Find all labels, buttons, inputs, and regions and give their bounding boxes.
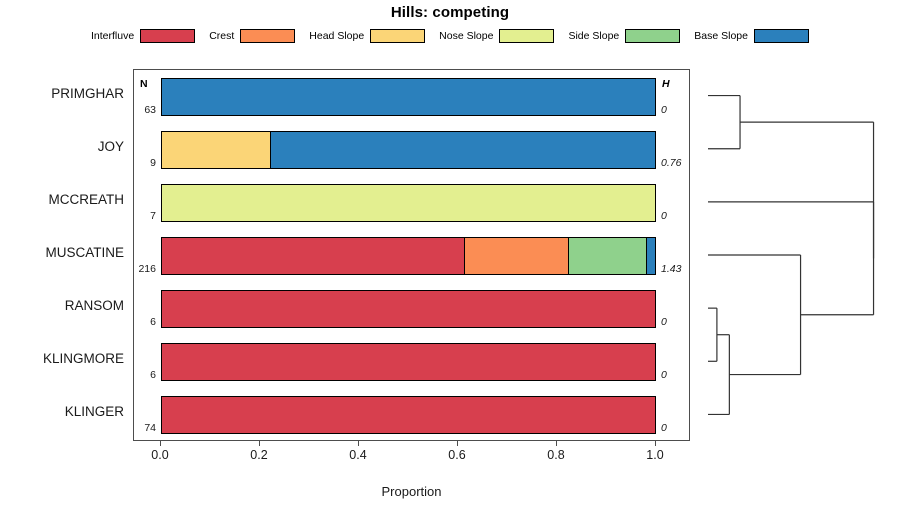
chart-root: Hills: competing InterfluveCrestHead Slo…	[0, 0, 900, 520]
h-value: 0	[661, 316, 667, 328]
legend-entry: Interfluve	[91, 29, 195, 43]
n-value: 74	[134, 422, 156, 434]
legend-entry-label: Crest	[209, 30, 234, 42]
category-label: PRIMGHAR	[51, 87, 124, 101]
legend-entry: Side Slope	[568, 29, 680, 43]
category-label: JOY	[98, 140, 124, 154]
x-axis-tick	[655, 441, 656, 446]
category-label: MCCREATH	[49, 193, 125, 207]
legend: InterfluveCrestHead SlopeNose SlopeSide …	[0, 26, 900, 46]
legend-entry-label: Nose Slope	[439, 30, 493, 42]
legend-entry-label: Head Slope	[309, 30, 364, 42]
stacked-bar	[161, 343, 656, 381]
stacked-bar	[161, 290, 656, 328]
dendrogram-svg	[700, 69, 896, 441]
bar-segment	[162, 185, 655, 221]
h-value: 0	[661, 369, 667, 381]
x-axis: 0.00.20.40.60.81.0	[133, 441, 690, 481]
bar-segment	[162, 132, 271, 168]
legend-color-swatch	[625, 29, 680, 43]
h-value: 1.43	[661, 263, 681, 275]
x-axis-tick-label: 0.6	[448, 448, 465, 462]
category-axis-labels: PRIMGHARJOYMCCREATHMUSCATINERANSOMKLINGM…	[0, 69, 128, 441]
n-value: 6	[134, 369, 156, 381]
x-axis-tick	[259, 441, 260, 446]
stacked-bar	[161, 396, 656, 434]
n-value: 9	[134, 157, 156, 169]
bar-segment	[162, 238, 465, 274]
h-value: 0	[661, 210, 667, 222]
n-value: 7	[134, 210, 156, 222]
category-label: MUSCATINE	[45, 246, 124, 260]
stacked-bar	[161, 184, 656, 222]
x-axis-tick-label: 0.4	[349, 448, 366, 462]
bar-segment	[271, 132, 655, 168]
h-value: 0.76	[661, 157, 681, 169]
x-axis-tick-label: 0.8	[547, 448, 564, 462]
x-axis-tick-label: 1.0	[646, 448, 663, 462]
dendrogram	[700, 69, 896, 441]
bar-segment	[647, 238, 655, 274]
legend-color-swatch	[140, 29, 195, 43]
legend-entry: Base Slope	[694, 29, 809, 43]
stacked-bar	[161, 78, 656, 116]
legend-color-swatch	[754, 29, 809, 43]
h-column-header: H	[662, 78, 670, 90]
x-axis-tick	[556, 441, 557, 446]
bar-segment	[162, 79, 655, 115]
x-axis-tick	[160, 441, 161, 446]
n-value: 216	[134, 263, 156, 275]
category-label: RANSOM	[65, 299, 124, 313]
legend-entry-label: Interfluve	[91, 30, 134, 42]
category-label: KLINGMORE	[43, 352, 124, 366]
x-axis-tick-label: 0.0	[151, 448, 168, 462]
h-value: 0	[661, 422, 667, 434]
x-axis-tick	[358, 441, 359, 446]
stacked-bar	[161, 131, 656, 169]
category-label: KLINGER	[65, 405, 124, 419]
bar-segment	[569, 238, 647, 274]
page-title: Hills: competing	[0, 4, 900, 21]
legend-color-swatch	[240, 29, 295, 43]
legend-entry-label: Side Slope	[568, 30, 619, 42]
x-axis-tick-label: 0.2	[250, 448, 267, 462]
bar-segment	[162, 397, 655, 433]
legend-entry: Crest	[209, 29, 295, 43]
n-value: 6	[134, 316, 156, 328]
legend-entry: Nose Slope	[439, 29, 554, 43]
legend-entry: Head Slope	[309, 29, 425, 43]
bar-segment	[162, 291, 655, 327]
legend-color-swatch	[499, 29, 554, 43]
stacked-bar	[161, 237, 656, 275]
legend-color-swatch	[370, 29, 425, 43]
plot-panel: N H 63090.76702161.436060740	[133, 69, 690, 441]
n-value: 63	[134, 104, 156, 116]
n-column-header: N	[140, 78, 148, 90]
legend-entry-label: Base Slope	[694, 30, 748, 42]
x-axis-label: Proportion	[133, 484, 690, 499]
bar-segment	[162, 344, 655, 380]
bar-segment	[465, 238, 569, 274]
h-value: 0	[661, 104, 667, 116]
x-axis-tick	[457, 441, 458, 446]
